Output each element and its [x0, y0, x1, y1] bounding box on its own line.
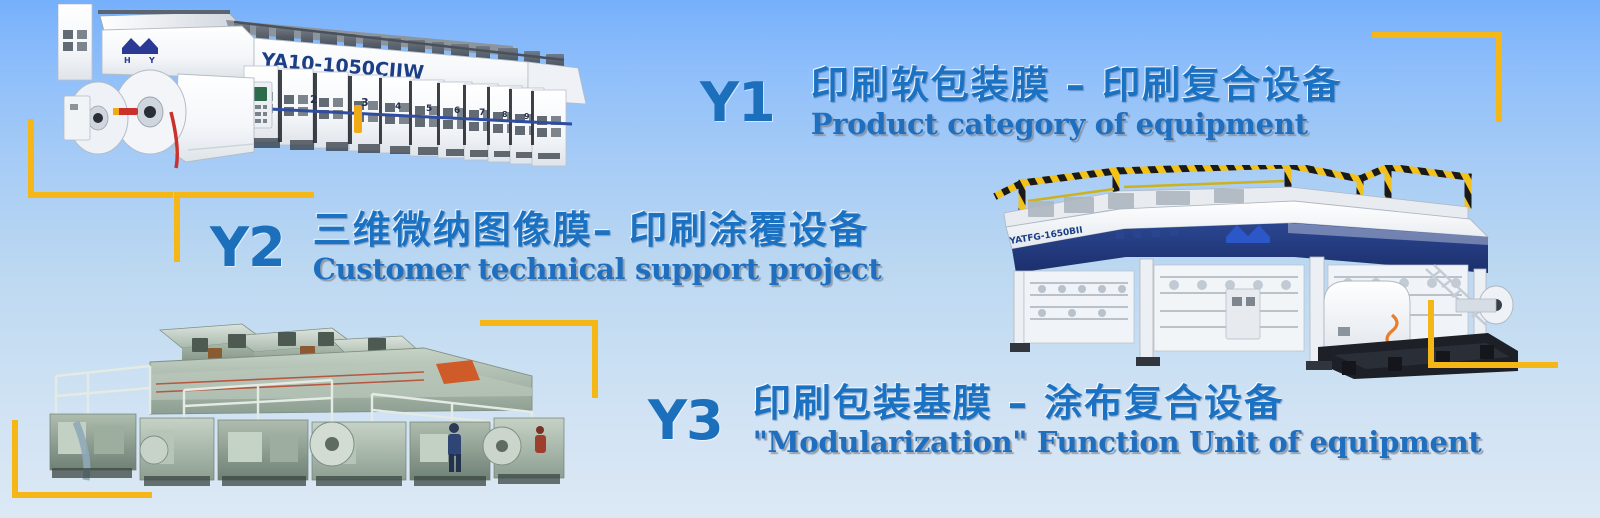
- entry-y3-code: Y3: [648, 382, 723, 448]
- entry-y2-subtitle: Customer technical support project: [313, 254, 882, 286]
- entry-y3-title: 印刷包装基膜 – 涂布复合设备: [753, 382, 1482, 425]
- entry-y1-code: Y1: [700, 64, 775, 130]
- svg-text:7: 7: [479, 108, 485, 118]
- corner-bracket-bottom-left: [12, 420, 152, 498]
- entry-y1-title: 印刷软包装膜 – 印刷复合设备: [811, 64, 1342, 107]
- entry-y2-code: Y2: [210, 209, 285, 275]
- svg-text:3: 3: [361, 96, 369, 109]
- svg-text:5: 5: [426, 104, 432, 114]
- svg-text:6: 6: [454, 106, 460, 116]
- equipment-category-banner: H Y YA10-1050CIIW: [0, 0, 1600, 518]
- corner-bracket-left-upper: [28, 119, 173, 198]
- svg-text:9: 9: [524, 112, 530, 121]
- svg-text:2: 2: [310, 93, 318, 106]
- svg-text:8: 8: [502, 110, 508, 119]
- corner-bracket-top-right: [1372, 32, 1502, 122]
- entry-y3-subtitle: "Modularization" Function Unit of equipm…: [753, 427, 1482, 459]
- entry-y1: Y1 印刷软包装膜 – 印刷复合设备 Product category of e…: [700, 64, 1342, 140]
- corner-bracket-y3: [480, 320, 598, 398]
- svg-text:4: 4: [395, 102, 401, 112]
- entry-y1-subtitle: Product category of equipment: [811, 109, 1342, 141]
- entry-y2: Y2 三维微纳图像膜– 印刷涂覆设备 Customer technical su…: [210, 209, 881, 285]
- svg-text:Y: Y: [148, 56, 155, 65]
- svg-text:H: H: [124, 56, 131, 65]
- entry-y2-title: 三维微纳图像膜– 印刷涂覆设备: [313, 209, 882, 252]
- entry-y3: Y3 印刷包装基膜 – 涂布复合设备 "Modularization" Func…: [648, 382, 1481, 458]
- corner-bracket-right-lower: [1428, 300, 1558, 368]
